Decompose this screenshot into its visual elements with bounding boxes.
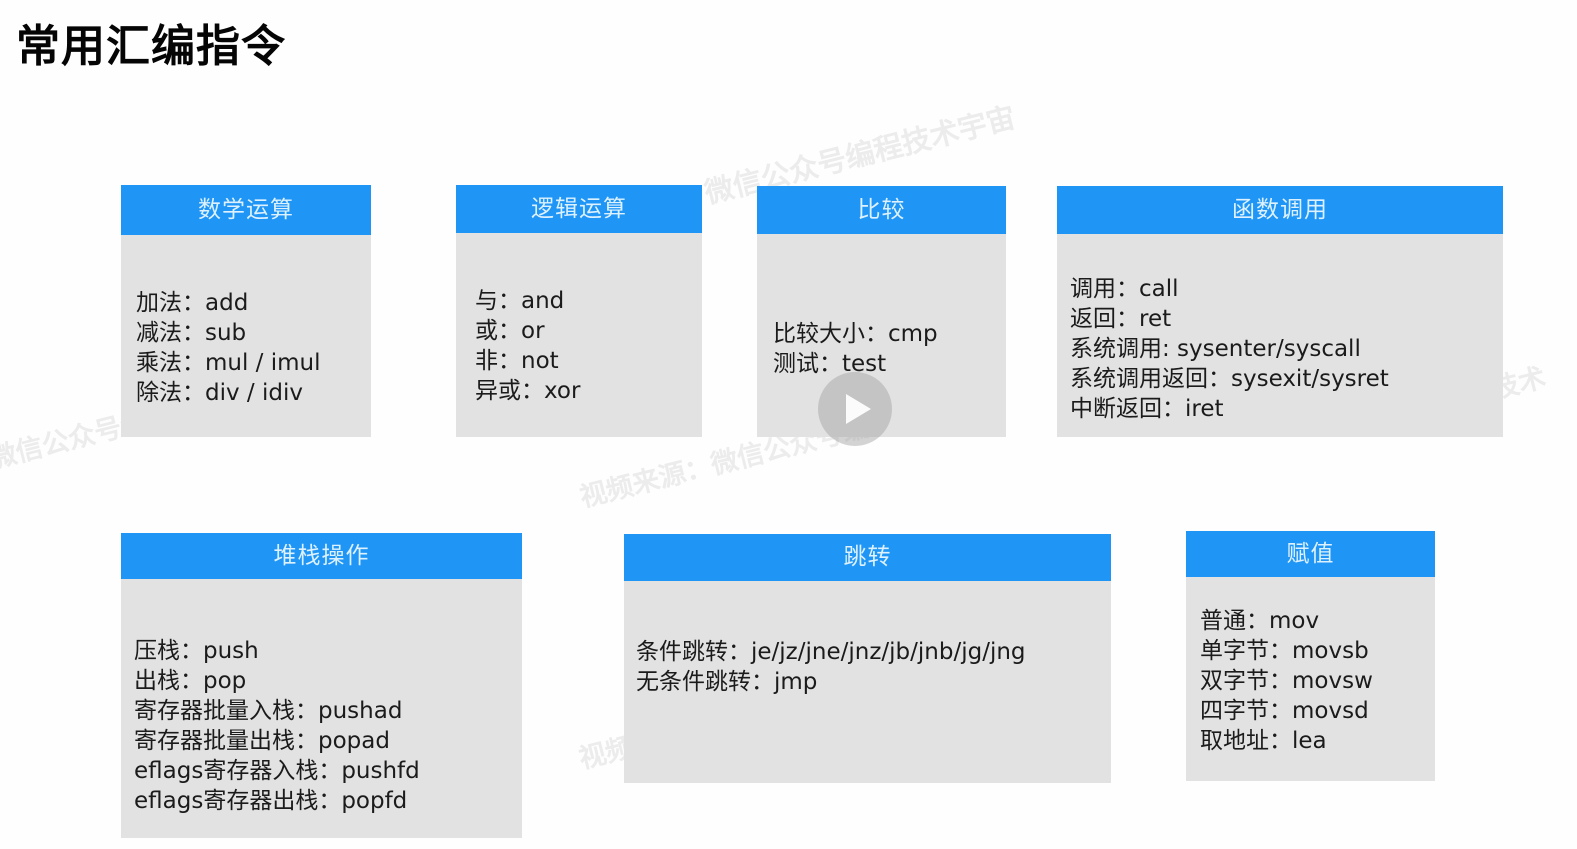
list-item: 或：or bbox=[475, 316, 702, 346]
list-item: 非：not bbox=[475, 346, 702, 376]
list-item: eflags寄存器出栈：popfd bbox=[134, 786, 522, 816]
list-item: 双字节：movsw bbox=[1200, 666, 1435, 696]
list-item: 与：and bbox=[475, 286, 702, 316]
list-item: 乘法：mul / imul bbox=[136, 348, 371, 378]
card-logic-body: 与：and 或：or 非：not 异或：xor bbox=[456, 233, 702, 437]
list-item: 加法：add bbox=[136, 288, 371, 318]
list-item: 普通：mov bbox=[1200, 606, 1435, 636]
card-stack-operation-header: 堆栈操作 bbox=[121, 533, 522, 579]
list-item: 无条件跳转：jmp bbox=[636, 667, 1111, 697]
card-function-call-body: 调用：call 返回：ret 系统调用: sysenter/syscall 系统… bbox=[1057, 234, 1503, 437]
list-item: 系统调用返回：sysexit/sysret bbox=[1070, 364, 1503, 394]
slide-canvas: 微信公众号编程技术宇宙 ：微信公众号编程 编程技术 视频来源：微信公众号编程 视… bbox=[0, 0, 1577, 849]
card-jump: 跳转 条件跳转：je/jz/jne/jnz/jb/jnb/jg/jng 无条件跳… bbox=[624, 534, 1111, 783]
card-math: 数学运算 加法：add 减法：sub 乘法：mul / imul 除法：div … bbox=[121, 185, 371, 437]
list-item: 比较大小：cmp bbox=[773, 319, 1006, 349]
card-assignment: 赋值 普通：mov 单字节：movsb 双字节：movsw 四字节：movsd … bbox=[1186, 531, 1435, 781]
card-jump-body: 条件跳转：je/jz/jne/jnz/jb/jnb/jg/jng 无条件跳转：j… bbox=[624, 581, 1111, 783]
play-icon[interactable] bbox=[818, 372, 892, 446]
card-assignment-header: 赋值 bbox=[1186, 531, 1435, 577]
page-title: 常用汇编指令 bbox=[16, 10, 286, 74]
card-assignment-body: 普通：mov 单字节：movsb 双字节：movsw 四字节：movsd 取地址… bbox=[1186, 577, 1435, 781]
list-item: 单字节：movsb bbox=[1200, 636, 1435, 666]
card-math-body: 加法：add 减法：sub 乘法：mul / imul 除法：div / idi… bbox=[121, 235, 371, 437]
card-math-header: 数学运算 bbox=[121, 185, 371, 235]
list-item: 取地址：lea bbox=[1200, 726, 1435, 756]
list-item: 调用：call bbox=[1070, 274, 1503, 304]
list-item: 减法：sub bbox=[136, 318, 371, 348]
list-item: 四字节：movsd bbox=[1200, 696, 1435, 726]
list-item: 出栈：pop bbox=[134, 666, 522, 696]
card-logic-header: 逻辑运算 bbox=[456, 185, 702, 233]
list-item: 寄存器批量出栈：popad bbox=[134, 726, 522, 756]
list-item: 中断返回：iret bbox=[1070, 394, 1503, 424]
list-item: 异或：xor bbox=[475, 376, 702, 406]
list-item: 返回：ret bbox=[1070, 304, 1503, 334]
card-stack-operation: 堆栈操作 压栈：push 出栈：pop 寄存器批量入栈：pushad 寄存器批量… bbox=[121, 533, 522, 838]
list-item: 寄存器批量入栈：pushad bbox=[134, 696, 522, 726]
play-triangle bbox=[846, 394, 871, 424]
card-function-call: 函数调用 调用：call 返回：ret 系统调用: sysenter/sysca… bbox=[1057, 186, 1503, 437]
list-item: 系统调用: sysenter/syscall bbox=[1070, 334, 1503, 364]
list-item: 条件跳转：je/jz/jne/jnz/jb/jnb/jg/jng bbox=[636, 637, 1111, 667]
card-logic: 逻辑运算 与：and 或：or 非：not 异或：xor bbox=[456, 185, 702, 437]
card-stack-operation-body: 压栈：push 出栈：pop 寄存器批量入栈：pushad 寄存器批量出栈：po… bbox=[121, 579, 522, 838]
list-item: 压栈：push bbox=[134, 636, 522, 666]
card-compare-header: 比较 bbox=[757, 186, 1006, 234]
list-item: eflags寄存器入栈：pushfd bbox=[134, 756, 522, 786]
list-item: 除法：div / idiv bbox=[136, 378, 371, 408]
card-jump-header: 跳转 bbox=[624, 534, 1111, 581]
list-item: 测试：test bbox=[773, 349, 1006, 379]
card-function-call-header: 函数调用 bbox=[1057, 186, 1503, 234]
